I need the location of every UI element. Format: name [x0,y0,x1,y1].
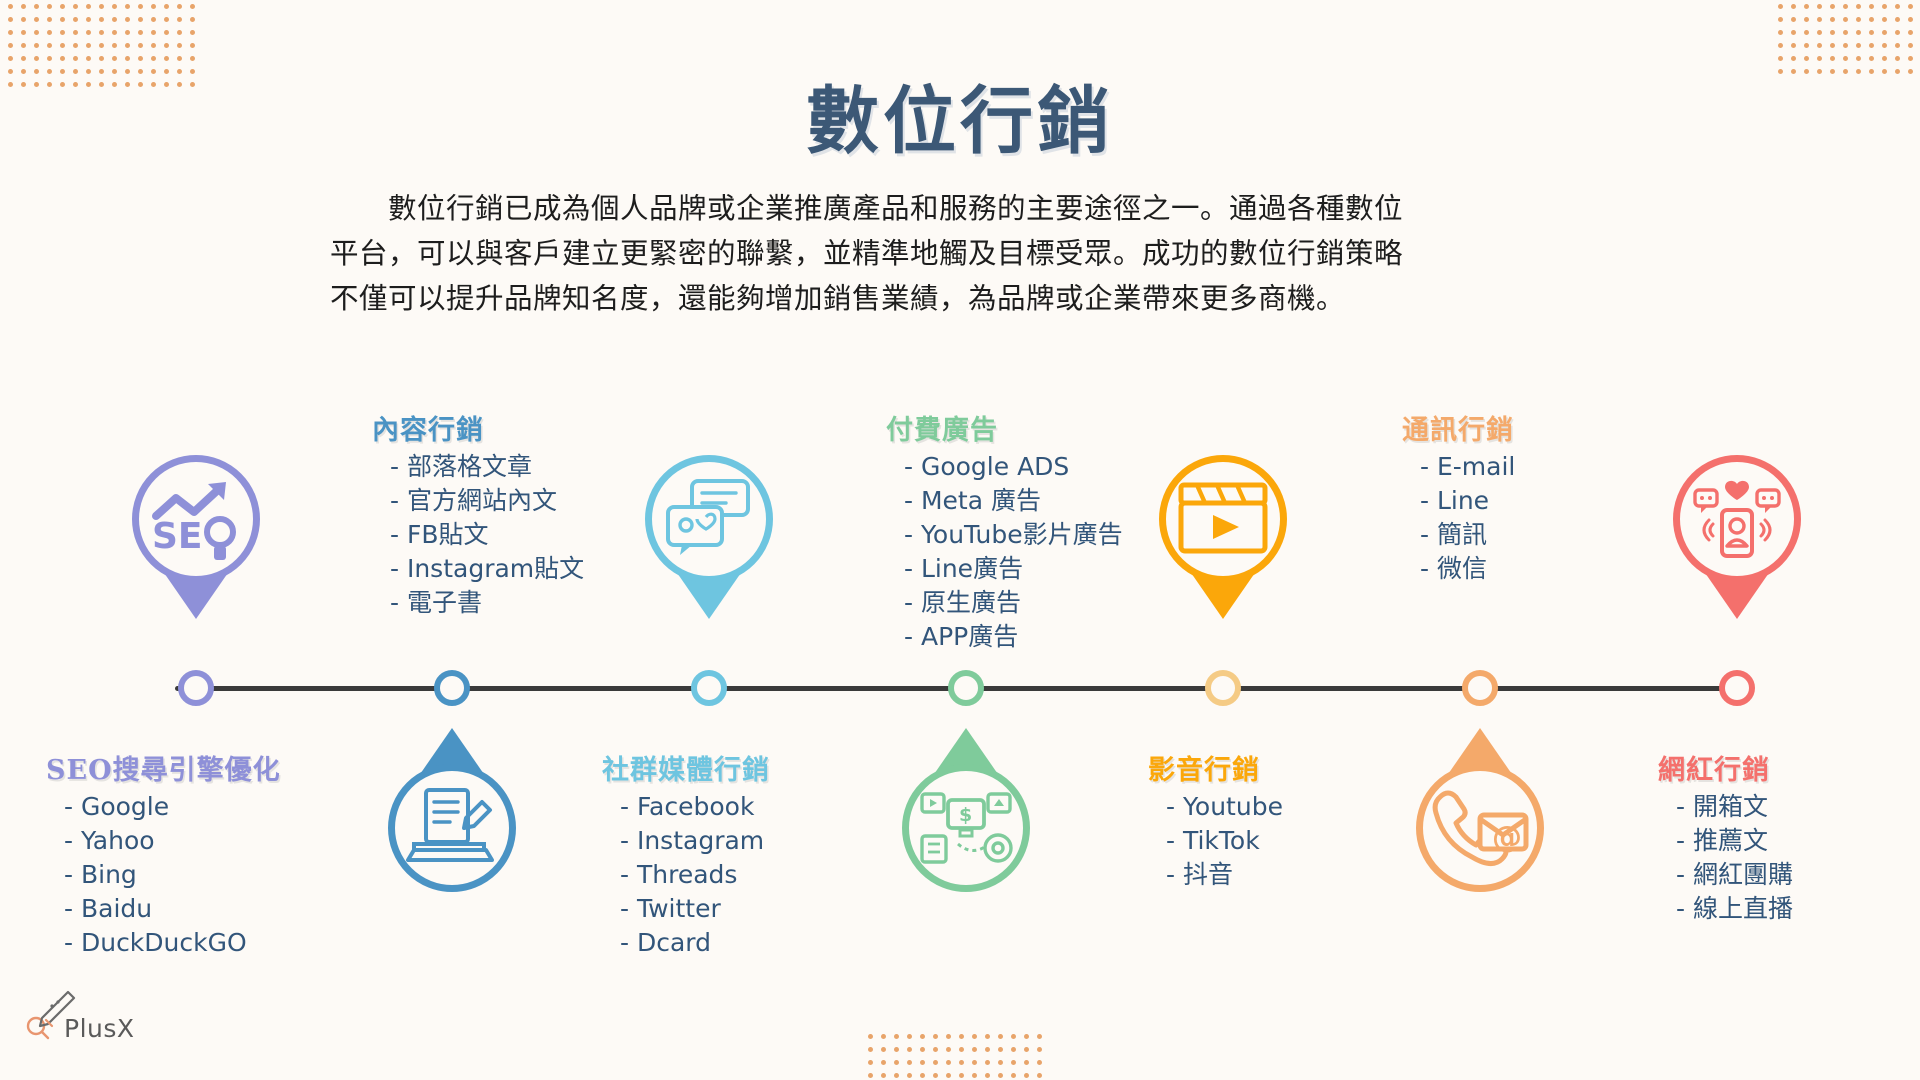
channel-list-seo: - Google- Yahoo- Bing- Baidu- DuckDuckGO [46,790,281,960]
list-item: - Instagram [620,824,770,858]
list-item: - 網紅團購 [1676,858,1793,892]
channel-block-content: 內容行銷- 部落格文章- 官方網站內文- FB貼文- Instagram貼文- … [372,408,584,620]
phone-envelope-at-icon: @ [1416,764,1544,892]
plusx-logo: PlusX [22,986,152,1056]
list-item: - YouTube影片廣告 [904,518,1123,552]
list-item: - Google ADS [904,450,1123,484]
list-item: - 抖音 [1166,858,1283,892]
list-item: - Instagram貼文 [390,552,584,586]
svg-text:@: @ [1492,820,1522,855]
list-item: - 電子書 [390,586,584,620]
channel-pin-paid-ads[interactable]: $ [902,728,1030,892]
paragraph-line-3: 不僅可以提升品牌知名度，還能夠增加銷售業績，為品牌或企業帶來更多商機。 [330,276,1600,321]
list-item: - APP廣告 [904,620,1123,654]
channel-list-video: - Youtube- TikTok- 抖音 [1148,790,1283,892]
list-item: - DuckDuckGO [64,926,281,960]
channel-title-seo: SEO搜尋引擎優化 [46,748,281,787]
paragraph-line-1: 數位行銷已成為個人品牌或企業推廣產品和服務的主要途徑之一。通過各種數位 [330,186,1600,231]
list-item: - Youtube [1166,790,1283,824]
list-item: - 線上直播 [1676,892,1793,926]
channel-title-video: 影音行銷 [1148,748,1283,787]
channel-title-influencer: 網紅行銷 [1658,748,1793,787]
channel-block-social: 社群媒體行銷- Facebook- Instagram- Threads- Tw… [602,748,770,960]
list-item: - Meta 廣告 [904,484,1123,518]
timeline-knot-1[interactable] [434,670,470,706]
list-item: - Baidu [64,892,281,926]
list-item: - FB貼文 [390,518,584,552]
channel-block-seo: SEO搜尋引擎優化- Google- Yahoo- Bing- Baidu- D… [46,748,281,960]
paragraph-line-2: 平台，可以與客戶建立更緊密的聯繫，並精準地觸及目標受眾。成功的數位行銷策略 [330,231,1600,276]
channel-pin-content[interactable] [388,728,516,892]
intro-paragraph: 數位行銷已成為個人品牌或企業推廣產品和服務的主要途徑之一。通過各種數位 平台，可… [330,186,1600,321]
list-item: - Line廣告 [904,552,1123,586]
channel-pin-seo[interactable]: SE [132,455,260,619]
channel-block-paid-ads: 付費廣告- Google ADS- Meta 廣告- YouTube影片廣告- … [886,408,1123,654]
seo-chart-magnifier-icon: SE [132,455,260,583]
list-item: - 部落格文章 [390,450,584,484]
list-item: - 簡訊 [1420,518,1515,552]
timeline-knot-2[interactable] [691,670,727,706]
list-item: - Threads [620,858,770,892]
infographic-canvas: 數位行銷 數位行銷已成為個人品牌或企業推廣產品和服務的主要途徑之一。通過各種數位… [0,0,1920,1080]
timeline-knot-3[interactable] [948,670,984,706]
channel-block-messaging: 通訊行銷- E-mail- Line- 簡訊- 微信 [1402,408,1515,586]
channel-list-social: - Facebook- Instagram- Threads- Twitter-… [602,790,770,960]
ads-screen-megaphone-icon: $ [902,764,1030,892]
list-item: - TikTok [1166,824,1283,858]
video-play-clapperboard-icon [1159,455,1287,583]
channel-title-messaging: 通訊行銷 [1402,408,1515,447]
list-item: - 原生廣告 [904,586,1123,620]
channel-block-influencer: 網紅行銷- 開箱文- 推薦文- 網紅團購- 線上直播 [1658,748,1793,926]
page-title: 數位行銷 [0,62,1920,168]
channel-list-paid-ads: - Google ADS- Meta 廣告- YouTube影片廣告- Line… [886,450,1123,654]
list-item: - 推薦文 [1676,824,1793,858]
list-item: - Yahoo [64,824,281,858]
channel-list-influencer: - 開箱文- 推薦文- 網紅團購- 線上直播 [1658,790,1793,926]
channel-title-paid-ads: 付費廣告 [886,408,1123,447]
list-item: - 官方網站內文 [390,484,584,518]
chat-bubbles-icon [645,455,773,583]
list-item: - Google [64,790,281,824]
list-item: - 微信 [1420,552,1515,586]
channel-block-video: 影音行銷- Youtube- TikTok- 抖音 [1148,748,1283,892]
channel-list-messaging: - E-mail- Line- 簡訊- 微信 [1402,450,1515,586]
timeline-knot-0[interactable] [178,670,214,706]
timeline-knot-6[interactable] [1719,670,1755,706]
document-pen-laptop-icon [388,764,516,892]
svg-text:$: $ [959,804,972,826]
list-item: - Line [1420,484,1515,518]
channel-title-content: 內容行銷 [372,408,584,447]
channel-title-social: 社群媒體行銷 [602,748,770,787]
list-item: - E-mail [1420,450,1515,484]
channel-pin-influencer[interactable] [1673,455,1801,619]
channel-pin-social[interactable] [645,455,773,619]
list-item: - 開箱文 [1676,790,1793,824]
list-item: - Twitter [620,892,770,926]
timeline-knot-4[interactable] [1205,670,1241,706]
channel-pin-video[interactable] [1159,455,1287,619]
list-item: - Facebook [620,790,770,824]
list-item: - Dcard [620,926,770,960]
channel-list-content: - 部落格文章- 官方網站內文- FB貼文- Instagram貼文- 電子書 [372,450,584,620]
channel-pin-messaging[interactable]: @ [1416,728,1544,892]
plusx-logo-text: PlusX [64,1014,135,1043]
timeline-knot-5[interactable] [1462,670,1498,706]
phone-person-heart-icon [1673,455,1801,583]
svg-text:SE: SE [152,516,203,557]
list-item: - Bing [64,858,281,892]
